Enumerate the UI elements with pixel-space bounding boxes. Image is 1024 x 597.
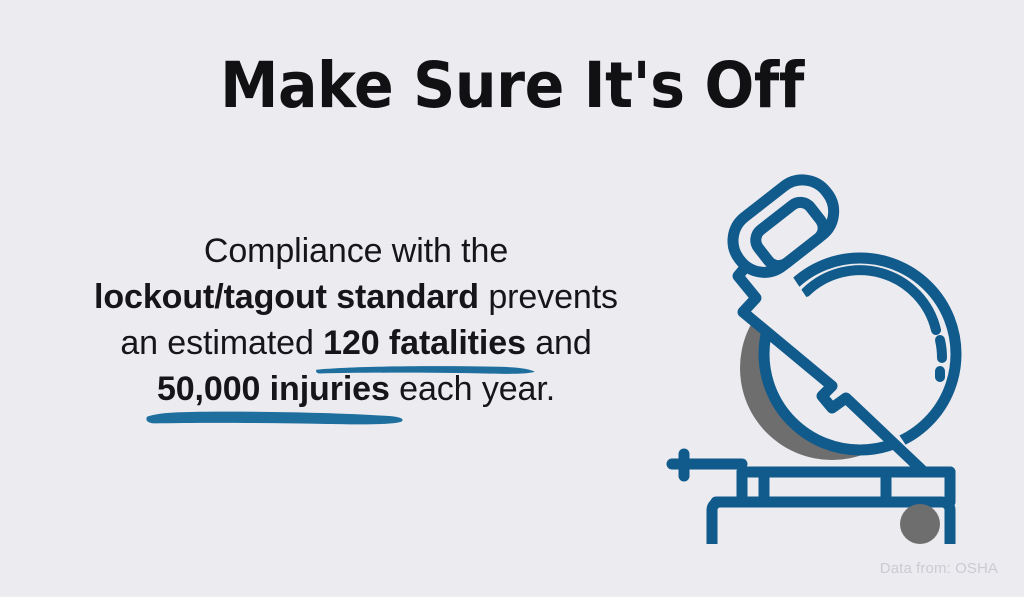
page-title: Make Sure It's Off <box>36 52 988 120</box>
fatalities-highlight: 120 fatalities <box>323 320 526 366</box>
body-copy: Compliance with the lockout/tagout stand… <box>36 228 676 412</box>
chop-saw-illustration <box>646 172 1018 544</box>
guard-arc-tick-1 <box>940 340 942 358</box>
brush-underline-icon <box>143 410 406 427</box>
knob <box>900 504 940 544</box>
body-line-2: lockout/tagout standard prevents <box>36 274 676 320</box>
body-line-1: Compliance with the <box>36 228 676 274</box>
fatalities-text: 120 fatalities <box>323 324 526 362</box>
source-credit: Data from: OSHA <box>880 560 998 577</box>
body-line-4: 50,000 injuries each year. <box>36 366 676 412</box>
injuries-text: 50,000 injuries <box>157 370 390 408</box>
body-line-2-rest: prevents <box>479 278 618 316</box>
body-line-1-text: Compliance with the <box>204 232 508 270</box>
injuries-highlight: 50,000 injuries <box>157 366 390 412</box>
infographic-canvas: Make Sure It's Off Compliance with the l… <box>0 0 1024 597</box>
body-line-3-post: and <box>526 324 592 362</box>
body-line-4-post: each year. <box>390 370 555 408</box>
body-line-3: an estimated 120 fatalities and <box>36 320 676 366</box>
standard-phrase: lockout/tagout standard <box>94 278 479 316</box>
body-line-3-pre: an estimated <box>120 324 323 362</box>
